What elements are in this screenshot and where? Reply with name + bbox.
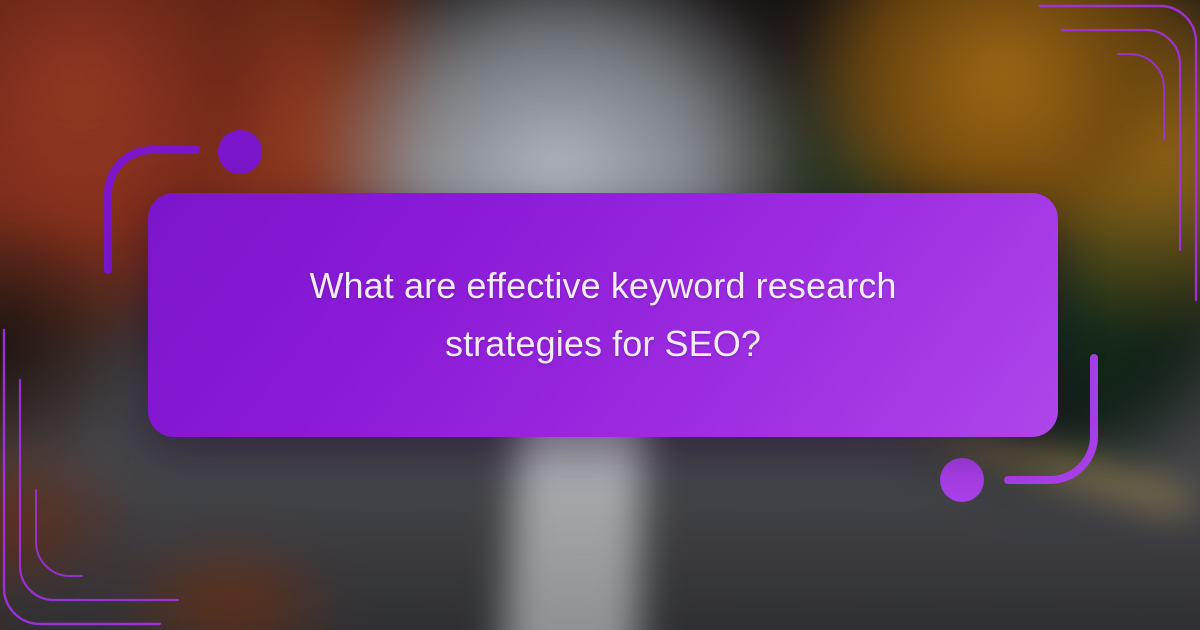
dot-bottom-right-icon — [940, 458, 984, 502]
dot-top-left-icon — [218, 130, 262, 174]
poster-canvas: What are effective keyword research stra… — [0, 0, 1200, 630]
question-card: What are effective keyword research stra… — [148, 193, 1058, 437]
question-text: What are effective keyword research stra… — [283, 257, 923, 374]
